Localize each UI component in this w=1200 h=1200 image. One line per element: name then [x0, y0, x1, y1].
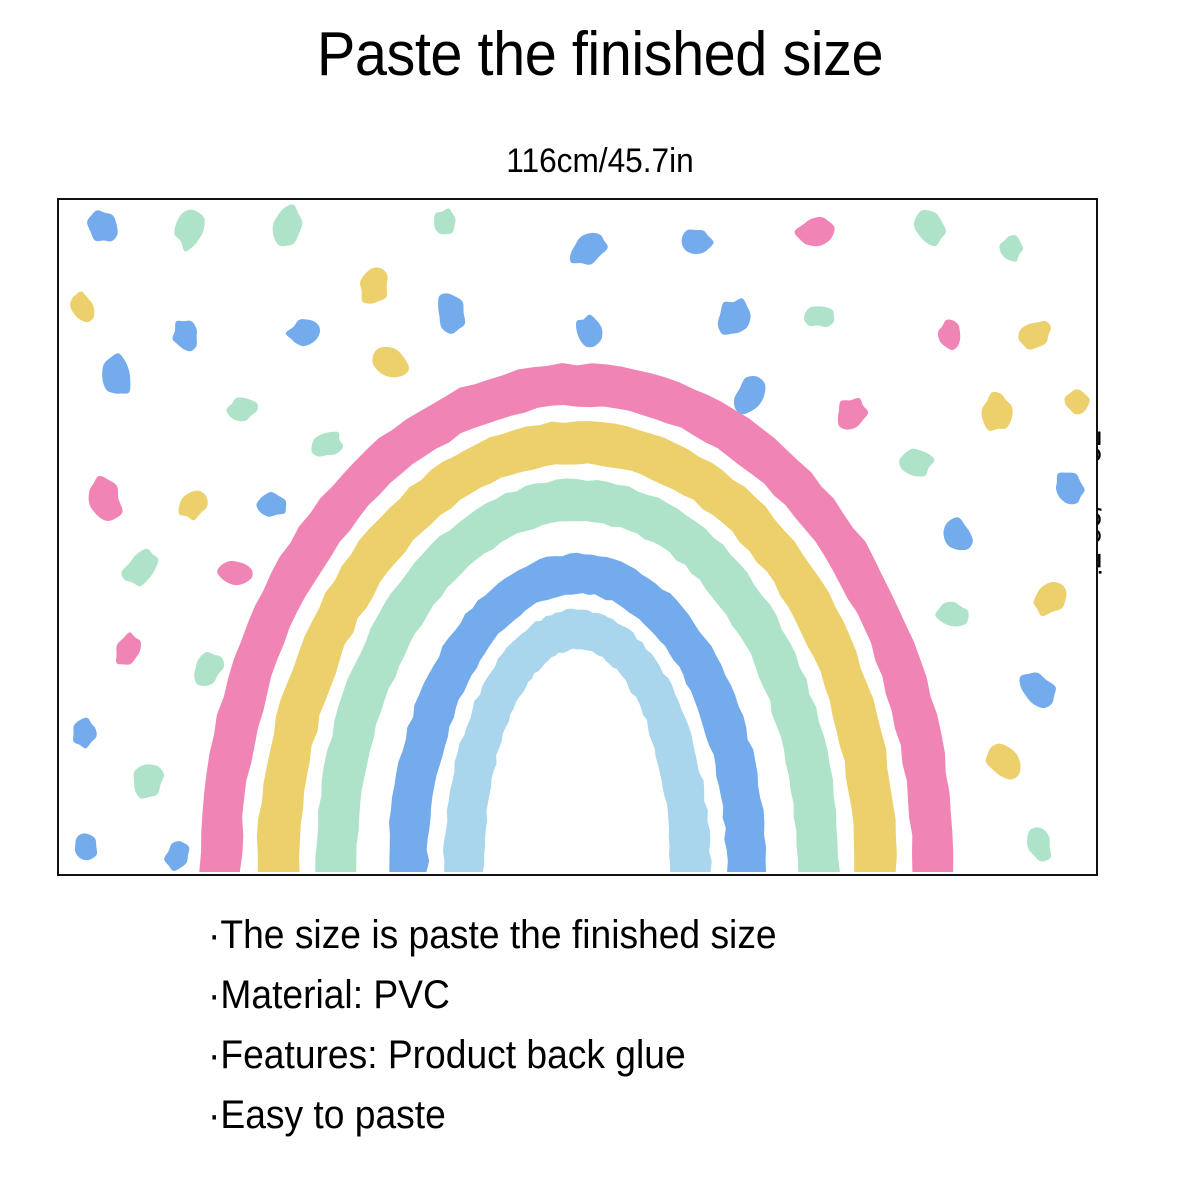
artwork-frame	[57, 198, 1098, 876]
rainbow-artwork	[59, 200, 1096, 874]
product-size-infographic: Paste the finished size 116cm/45.7in 73c…	[0, 0, 1200, 1200]
page-title: Paste the finished size	[42, 18, 1158, 92]
bullet-item: ·Material: PVC	[208, 965, 1045, 1025]
bullet-item: ·Easy to paste	[208, 1085, 1045, 1145]
confetti-dot	[804, 306, 834, 327]
bullet-item: ·Features: Product back glue	[208, 1025, 1045, 1085]
confetti-dot	[75, 833, 97, 860]
width-dimension-label: 116cm/45.7in	[42, 140, 1158, 182]
feature-bullet-list: ·The size is paste the finished size ·Ma…	[208, 905, 1108, 1145]
bullet-item: ·The size is paste the finished size	[208, 905, 1045, 965]
